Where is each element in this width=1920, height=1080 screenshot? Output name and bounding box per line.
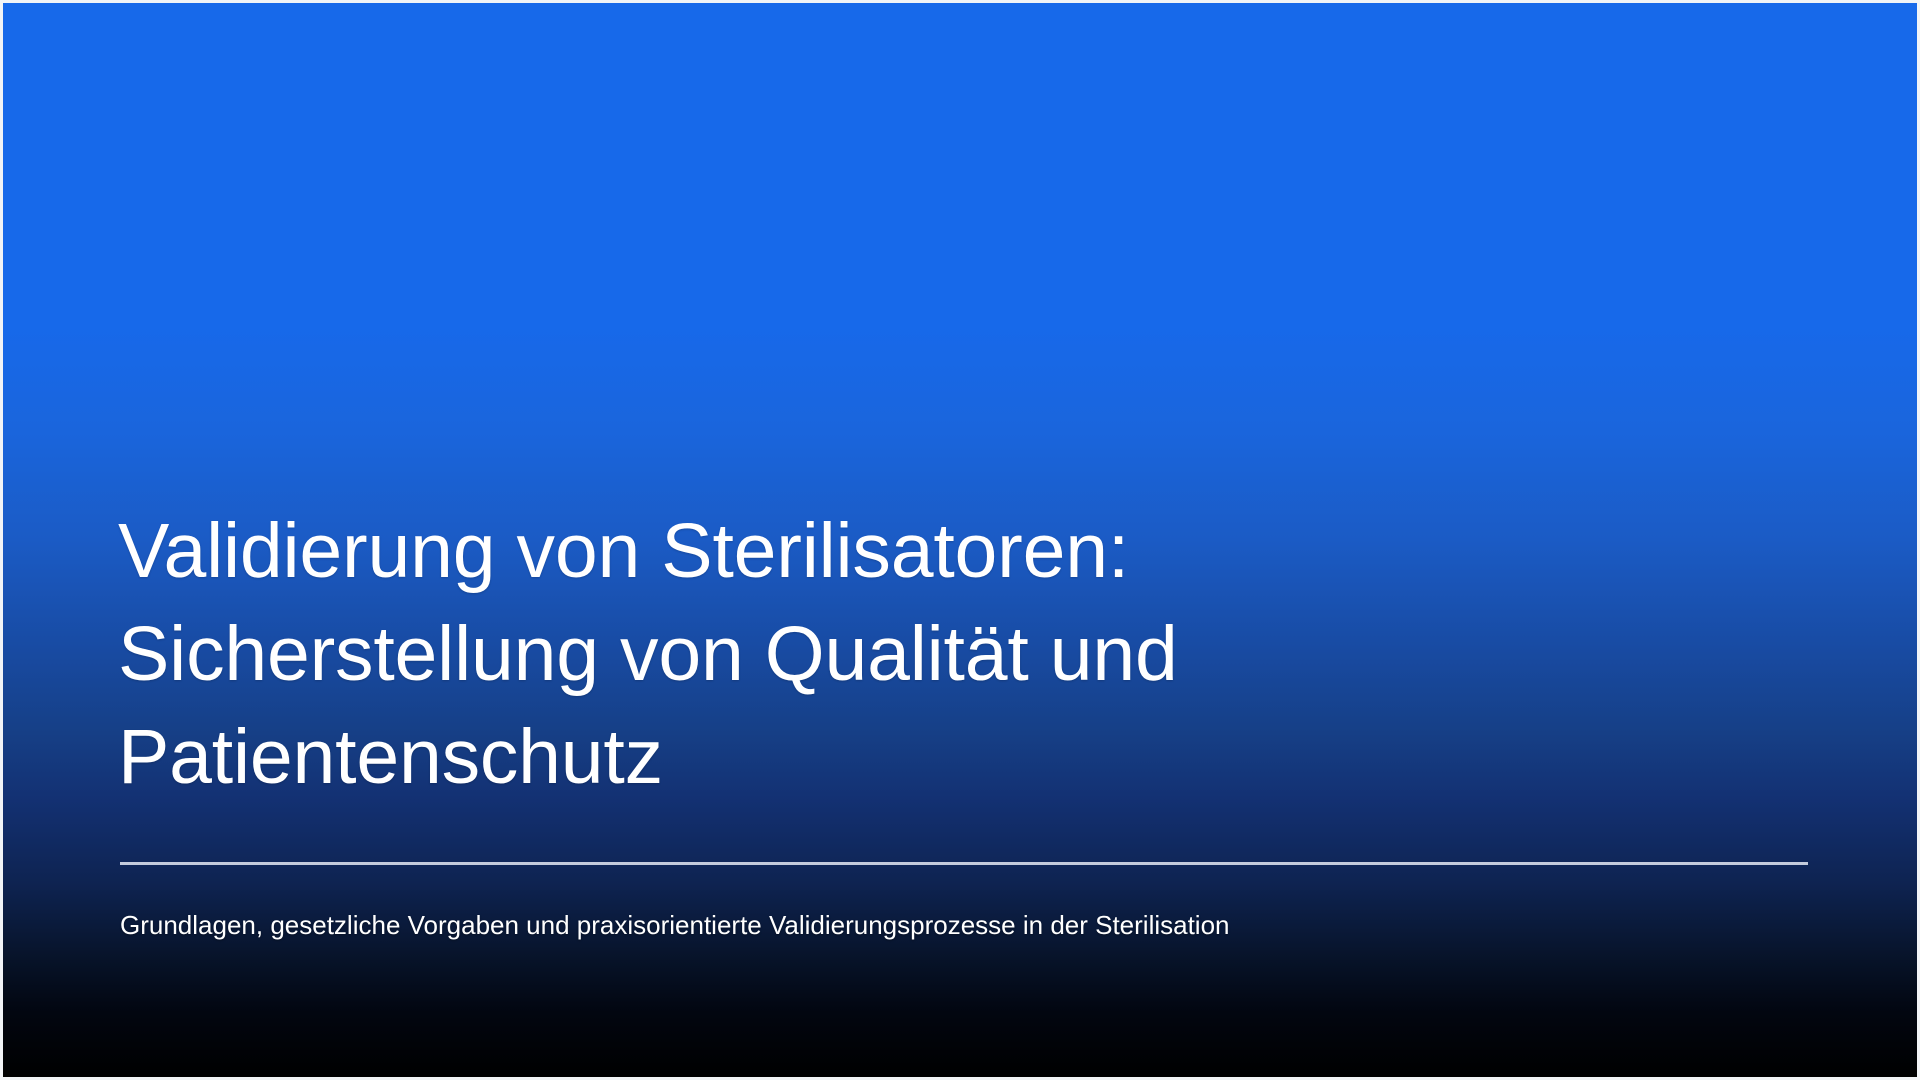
title-line-2: Sicherstellung von Qualität und (118, 603, 1818, 706)
title-slide: Validierung von Sterilisatoren: Sicherst… (0, 0, 1920, 1080)
title-line-3: Patientenschutz (118, 706, 1818, 809)
title-divider-line (120, 862, 1808, 865)
title-line-1: Validierung von Sterilisatoren: (118, 500, 1818, 603)
slide-subtitle: Grundlagen, gesetzliche Vorgaben und pra… (120, 906, 1820, 944)
slide-title: Validierung von Sterilisatoren: Sicherst… (118, 500, 1818, 809)
